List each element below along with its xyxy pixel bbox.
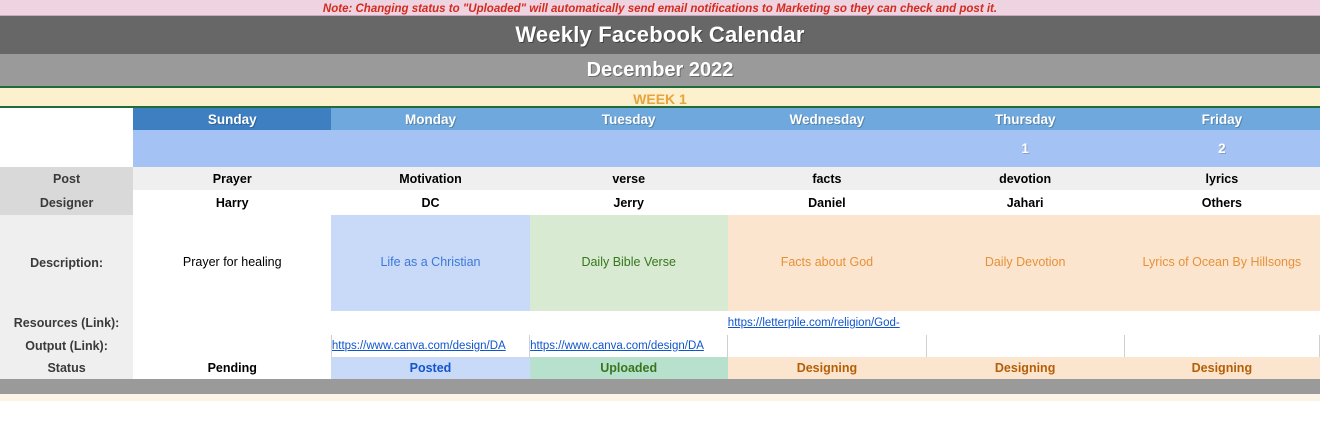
day-header-tuesday: Tuesday	[530, 108, 728, 130]
description-cell-friday[interactable]: Lyrics of Ocean By Hillsongs	[1124, 215, 1319, 311]
designer-cell-tuesday[interactable]: Jerry	[530, 190, 728, 215]
day-header-friday: Friday	[1124, 108, 1319, 130]
output-link-monday[interactable]: https://www.canva.com/design/DA	[332, 340, 506, 352]
date-cell-thursday[interactable]: 1	[926, 130, 1124, 167]
resource-cell-friday[interactable]	[1124, 311, 1319, 335]
date-cell-sunday[interactable]	[133, 130, 331, 167]
corner-cell	[0, 108, 133, 130]
day-header-row: Sunday Monday Tuesday Wednesday Thursday…	[0, 108, 1320, 130]
status-badge-friday[interactable]: Designing	[1124, 357, 1319, 379]
post-cell-wednesday[interactable]: facts	[728, 167, 926, 190]
description-cell-wednesday[interactable]: Facts about God	[728, 215, 926, 311]
status-row: Status Pending Posted Uploaded Designing…	[0, 357, 1320, 379]
resources-row: Resources (Link): https://letterpile.com…	[0, 311, 1320, 335]
date-cell-friday[interactable]: 2	[1124, 130, 1319, 167]
designer-cell-friday[interactable]: Others	[1124, 190, 1319, 215]
calendar-table: Sunday Monday Tuesday Wednesday Thursday…	[0, 108, 1320, 379]
week-title: WEEK 1	[0, 86, 1320, 108]
bottom-cream-bar	[0, 394, 1320, 401]
output-row: Output (Link): https://www.canva.com/des…	[0, 335, 1320, 357]
output-row-label: Output (Link):	[0, 335, 133, 357]
status-badge-tuesday[interactable]: Uploaded	[530, 357, 728, 379]
status-row-label: Status	[0, 357, 133, 379]
description-row: Description: Prayer for healing Life as …	[0, 215, 1320, 311]
designer-row: Designer Harry DC Jerry Daniel Jahari Ot…	[0, 190, 1320, 215]
output-cell-wednesday[interactable]	[728, 335, 926, 357]
month-title: December 2022	[0, 54, 1320, 86]
designer-row-label: Designer	[0, 190, 133, 215]
resource-cell-monday[interactable]	[331, 311, 529, 335]
post-cell-monday[interactable]: Motivation	[331, 167, 529, 190]
resource-link-wednesday[interactable]: https://letterpile.com/religion/God-	[728, 317, 900, 329]
day-header-thursday: Thursday	[926, 108, 1124, 130]
description-cell-sunday[interactable]: Prayer for healing	[133, 215, 331, 311]
post-cell-friday[interactable]: lyrics	[1124, 167, 1319, 190]
output-cell-tuesday[interactable]: https://www.canva.com/design/DA	[530, 335, 728, 357]
description-row-label: Description:	[0, 215, 133, 311]
resource-cell-thursday[interactable]	[926, 311, 1124, 335]
date-cell-tuesday[interactable]	[530, 130, 728, 167]
day-header-wednesday: Wednesday	[728, 108, 926, 130]
post-cell-sunday[interactable]: Prayer	[133, 167, 331, 190]
date-cell-wednesday[interactable]	[728, 130, 926, 167]
note-text: Note: Changing status to "Uploaded" will…	[323, 3, 997, 15]
day-header-sunday: Sunday	[133, 108, 331, 130]
status-badge-thursday[interactable]: Designing	[926, 357, 1124, 379]
output-cell-friday[interactable]	[1124, 335, 1319, 357]
date-row: 1 2	[0, 130, 1320, 167]
output-cell-monday[interactable]: https://www.canva.com/design/DA	[331, 335, 529, 357]
output-link-tuesday[interactable]: https://www.canva.com/design/DA	[530, 340, 704, 352]
page-title: Weekly Facebook Calendar	[0, 16, 1320, 54]
status-badge-sunday[interactable]: Pending	[133, 357, 331, 379]
post-row-label: Post	[0, 167, 133, 190]
designer-cell-thursday[interactable]: Jahari	[926, 190, 1124, 215]
resource-cell-wednesday[interactable]: https://letterpile.com/religion/God-	[728, 311, 926, 335]
designer-cell-sunday[interactable]: Harry	[133, 190, 331, 215]
description-cell-thursday[interactable]: Daily Devotion	[926, 215, 1124, 311]
resources-row-label: Resources (Link):	[0, 311, 133, 335]
description-cell-tuesday[interactable]: Daily Bible Verse	[530, 215, 728, 311]
post-cell-tuesday[interactable]: verse	[530, 167, 728, 190]
output-cell-thursday[interactable]	[926, 335, 1124, 357]
status-badge-monday[interactable]: Posted	[331, 357, 529, 379]
description-cell-monday[interactable]: Life as a Christian	[331, 215, 529, 311]
resource-cell-tuesday[interactable]	[530, 311, 728, 335]
calendar-sheet: Note: Changing status to "Uploaded" will…	[0, 0, 1320, 429]
date-cell-monday[interactable]	[331, 130, 529, 167]
resource-cell-sunday[interactable]	[133, 311, 331, 335]
day-header-monday: Monday	[331, 108, 529, 130]
output-cell-sunday[interactable]	[133, 335, 331, 357]
designer-cell-monday[interactable]: DC	[331, 190, 529, 215]
designer-cell-wednesday[interactable]: Daniel	[728, 190, 926, 215]
note-banner: Note: Changing status to "Uploaded" will…	[0, 0, 1320, 16]
post-cell-thursday[interactable]: devotion	[926, 167, 1124, 190]
bottom-gray-bar	[0, 379, 1320, 394]
status-badge-wednesday[interactable]: Designing	[728, 357, 926, 379]
date-row-label	[0, 130, 133, 167]
post-row: Post Prayer Motivation verse facts devot…	[0, 167, 1320, 190]
